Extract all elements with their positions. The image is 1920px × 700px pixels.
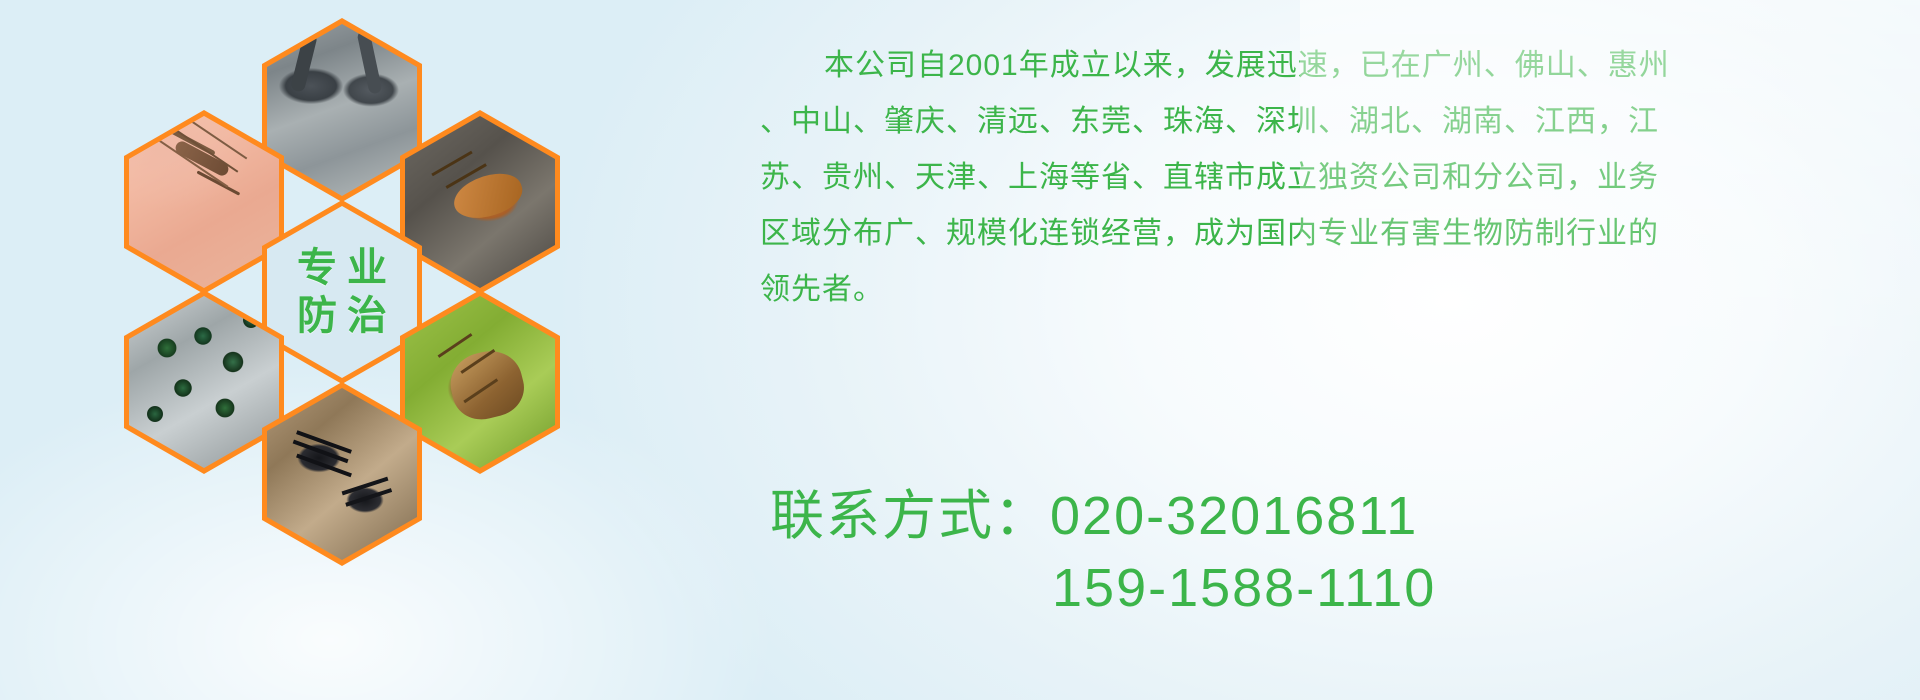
contact-primary-phone[interactable]: 联系方式：020-32016811 bbox=[770, 480, 1770, 552]
hexagon-inner: 专业 防治 bbox=[267, 206, 417, 378]
stink-bug-image bbox=[405, 296, 555, 468]
hexagon-stink-bug-photo bbox=[400, 290, 560, 474]
hexagon-mosquito-photo bbox=[124, 110, 284, 294]
hexagon-inner bbox=[405, 296, 555, 468]
hexagon-cockroach-photo bbox=[400, 110, 560, 294]
intro-line-4: 区域分布广、规模化连锁经营，成为国内专业有害生物防制行业的 bbox=[760, 206, 1860, 262]
ant-image bbox=[267, 388, 417, 560]
intro-line-3: 苏、贵州、天津、上海等省、直辖市成立独资公司和分公司，业务 bbox=[760, 150, 1860, 206]
company-intro-block: 本公司自2001年成立以来，发展迅速，已在广州、佛山、惠州 、中山、肇庆、清远、… bbox=[760, 38, 1860, 318]
contact-block: 联系方式：020-32016811 159-1588-1110 bbox=[770, 480, 1770, 624]
hexagon-inner bbox=[129, 116, 279, 288]
hexagon-ant-photo bbox=[262, 382, 422, 566]
intro-line-2: 、中山、肇庆、清远、东莞、珠海、深圳、湖北、湖南、江西，江 bbox=[760, 94, 1860, 150]
hexagon-inner bbox=[405, 116, 555, 288]
mosquito-image bbox=[129, 116, 279, 288]
hexagon-inner bbox=[267, 24, 417, 196]
hexagon-rats-photo bbox=[262, 18, 422, 202]
intro-line-1-text: 本公司自2001年成立以来，发展迅速，已在广州、佛山、惠州 bbox=[824, 49, 1670, 82]
intro-line-5: 领先者。 bbox=[760, 262, 1860, 318]
hexagon-flies-photo bbox=[124, 290, 284, 474]
pest-control-banner: 专业 防治 本公司自2001年成立以来，发展迅速，已在广州、佛山、惠州 bbox=[0, 0, 1920, 700]
contact-secondary-phone[interactable]: 159-1588-1110 bbox=[770, 552, 1770, 624]
cockroach-image bbox=[405, 116, 555, 288]
hexagon-collage: 专业 防治 bbox=[0, 0, 620, 700]
brand-slogan-line2: 防治 bbox=[287, 295, 397, 337]
hexagon-inner bbox=[267, 388, 417, 560]
brand-slogan: 专业 防治 bbox=[267, 206, 417, 378]
flies-image bbox=[129, 296, 279, 468]
hexagon-inner bbox=[129, 296, 279, 468]
rats-image bbox=[267, 24, 417, 196]
hexagon-brand-center: 专业 防治 bbox=[262, 200, 422, 384]
brand-slogan-line1: 专业 bbox=[287, 247, 397, 289]
intro-line-1: 本公司自2001年成立以来，发展迅速，已在广州、佛山、惠州 bbox=[760, 38, 1860, 94]
